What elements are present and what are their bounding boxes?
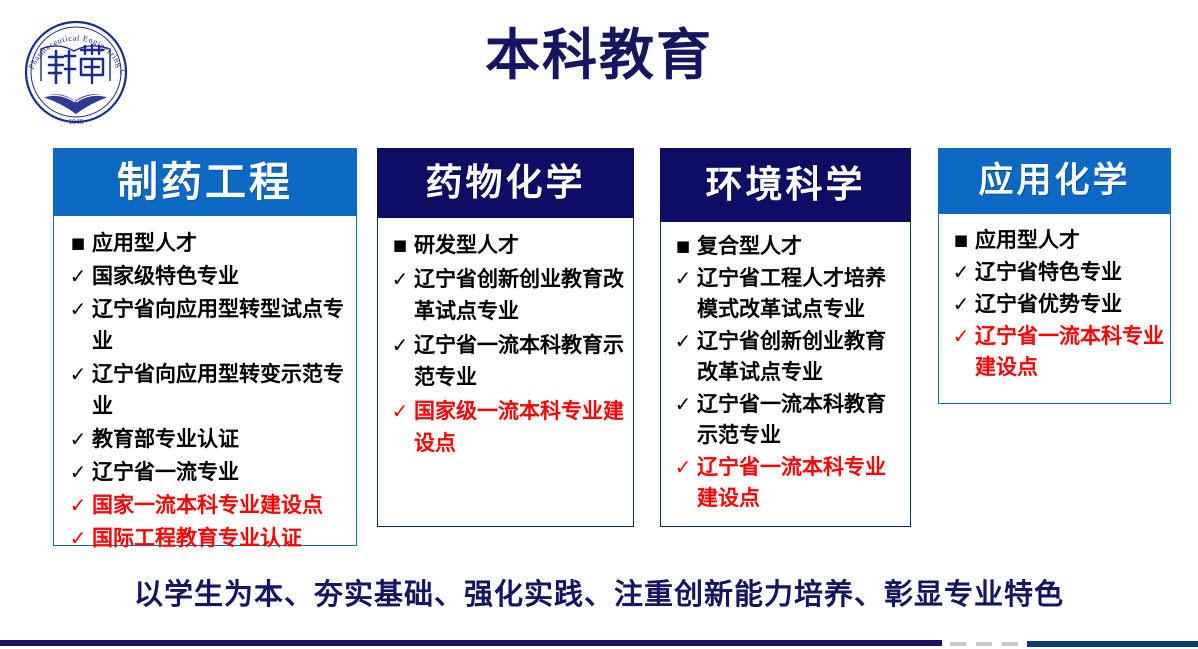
major-card-applied-chemistry: 应用化学 ■ 应用型人才 ✓ 辽宁省特色专业 ✓ 辽宁省优势专业 ✓ 辽宁省一流… [938, 148, 1171, 404]
card-header-environmental-science: 环境科学 [660, 148, 911, 222]
square-bullet-icon: ■ [947, 225, 975, 256]
list-item-label: 国家级特色专业 [92, 260, 348, 292]
list-item: ■ 研发型人才 [386, 229, 627, 261]
list-item-label: 教育部专业认证 [92, 423, 348, 455]
list-item: ✓ 辽宁省优势专业 [947, 289, 1164, 320]
card-body-pharmaceutical-engineering: ■ 应用型人才 ✓ 国家级特色专业 ✓ 辽宁省向应用型转型试点专业 ✓ 辽宁省向… [53, 216, 357, 546]
list-item: ■ 应用型人才 [947, 225, 1164, 256]
list-item-label: 辽宁省创新创业教育改革试点专业 [697, 326, 904, 388]
list-item: ✓ 国家一流本科专业建设点 [64, 489, 348, 521]
credential-list: ■ 研发型人才 ✓ 辽宁省创新创业教育改革试点专业 ✓ 辽宁省一流本科教育示范专… [386, 229, 627, 459]
square-bullet-icon: ■ [386, 229, 414, 261]
check-mark-icon: ✓ [64, 293, 92, 325]
card-title: 环境科学 [706, 163, 866, 206]
list-item: ✓ 辽宁省特色专业 [947, 257, 1164, 288]
list-item: ✓ 辽宁省工程人才培养模式改革试点专业 [669, 263, 904, 325]
check-mark-icon: ✓ [386, 329, 414, 361]
list-item: ✓ 辽宁省向应用型转型试点专业 [64, 293, 348, 357]
logo-year: ·1949· [66, 117, 86, 126]
check-mark-icon: ✓ [386, 395, 414, 427]
bottom-bar-dash [976, 642, 992, 646]
list-item: ■ 复合型人才 [669, 231, 904, 262]
list-item-label: 辽宁省一流专业 [92, 456, 348, 488]
list-item-label: 研发型人才 [414, 229, 627, 261]
list-item: ✓ 辽宁省创新创业教育改革试点专业 [386, 263, 627, 327]
page-title: 本科教育 [0, 20, 1198, 90]
list-item-label: 辽宁省一流本科专业建设点 [697, 452, 904, 514]
list-item-label: 应用型人才 [975, 225, 1164, 256]
check-mark-icon: ✓ [64, 489, 92, 521]
check-mark-icon: ✓ [669, 263, 697, 294]
list-item: ✓ 辽宁省一流本科专业建设点 [669, 452, 904, 514]
list-item-label: 辽宁省一流本科教育示范专业 [414, 329, 627, 393]
list-item-label: 辽宁省一流本科教育示范专业 [697, 389, 904, 451]
list-item-label: 辽宁省优势专业 [975, 289, 1164, 320]
bottom-bar-dash [1002, 642, 1018, 646]
check-mark-icon: ✓ [947, 321, 975, 352]
list-item-label: 国家一流本科专业建设点 [92, 489, 348, 521]
bottom-bar-navy-segment [0, 640, 942, 646]
list-item: ✓ 国际工程教育专业认证 [64, 522, 348, 554]
list-item: ✓ 辽宁省一流本科专业建设点 [947, 321, 1164, 383]
list-item: ✓ 教育部专业认证 [64, 423, 348, 455]
list-item: ✓ 辽宁省一流本科教育示范专业 [386, 329, 627, 393]
card-header-medicinal-chemistry: 药物化学 [377, 148, 634, 218]
card-body-environmental-science: ■ 复合型人才 ✓ 辽宁省工程人才培养模式改革试点专业 ✓ 辽宁省创新创业教育改… [660, 222, 911, 527]
card-header-pharmaceutical-engineering: 制药工程 [53, 148, 357, 216]
list-item: ■ 应用型人才 [64, 227, 348, 259]
list-item: ✓ 辽宁省向应用型转变示范专业 [64, 358, 348, 422]
check-mark-icon: ✓ [64, 358, 92, 390]
bottom-decorative-bar [0, 640, 1198, 649]
check-mark-icon: ✓ [64, 423, 92, 455]
list-item-label: 辽宁省工程人才培养模式改革试点专业 [697, 263, 904, 325]
list-item-label: 辽宁省一流本科专业建设点 [975, 321, 1164, 383]
check-mark-icon: ✓ [64, 260, 92, 292]
major-card-environmental-science: 环境科学 ■ 复合型人才 ✓ 辽宁省工程人才培养模式改革试点专业 ✓ 辽宁省创新… [660, 148, 911, 527]
check-mark-icon: ✓ [64, 456, 92, 488]
list-item-label: 辽宁省特色专业 [975, 257, 1164, 288]
major-card-medicinal-chemistry: 药物化学 ■ 研发型人才 ✓ 辽宁省创新创业教育改革试点专业 ✓ 辽宁省一流本科… [377, 148, 634, 527]
credential-list: ■ 复合型人才 ✓ 辽宁省工程人才培养模式改革试点专业 ✓ 辽宁省创新创业教育改… [669, 231, 904, 514]
credential-list: ■ 应用型人才 ✓ 辽宁省特色专业 ✓ 辽宁省优势专业 ✓ 辽宁省一流本科专业建… [947, 225, 1164, 383]
list-item: ✓ 辽宁省创新创业教育改革试点专业 [669, 326, 904, 388]
card-title: 制药工程 [117, 158, 293, 206]
card-title: 药物化学 [426, 161, 586, 204]
check-mark-icon: ✓ [386, 263, 414, 295]
square-bullet-icon: ■ [64, 227, 92, 259]
list-item-label: 国际工程教育专业认证 [92, 522, 348, 554]
check-mark-icon: ✓ [669, 389, 697, 420]
check-mark-icon: ✓ [947, 289, 975, 320]
list-item: ✓ 辽宁省一流专业 [64, 456, 348, 488]
card-body-applied-chemistry: ■ 应用型人才 ✓ 辽宁省特色专业 ✓ 辽宁省优势专业 ✓ 辽宁省一流本科专业建… [938, 214, 1171, 404]
list-item: ✓ 国家级一流本科专业建设点 [386, 395, 627, 459]
bottom-bar-dash [950, 642, 966, 646]
card-header-applied-chemistry: 应用化学 [938, 148, 1171, 214]
card-title: 应用化学 [978, 161, 1130, 201]
major-card-pharmaceutical-engineering: 制药工程 ■ 应用型人才 ✓ 国家级特色专业 ✓ 辽宁省向应用型转型试点专业 ✓… [53, 148, 357, 546]
check-mark-icon: ✓ [669, 326, 697, 357]
card-body-medicinal-chemistry: ■ 研发型人才 ✓ 辽宁省创新创业教育改革试点专业 ✓ 辽宁省一流本科教育示范专… [377, 218, 634, 527]
list-item-label: 应用型人才 [92, 227, 348, 259]
check-mark-icon: ✓ [947, 257, 975, 288]
list-item-label: 辽宁省向应用型转型试点专业 [92, 293, 348, 357]
check-mark-icon: ✓ [64, 522, 92, 554]
bottom-bar-dash-segment [950, 642, 1020, 646]
list-item-label: 辽宁省向应用型转变示范专业 [92, 358, 348, 422]
list-item-label: 国家级一流本科专业建设点 [414, 395, 627, 459]
list-item-label: 复合型人才 [697, 231, 904, 262]
list-item: ✓ 国家级特色专业 [64, 260, 348, 292]
footer-slogan: 以学生为本、夯实基础、强化实践、注重创新能力培养、彰显专业特色 [0, 574, 1198, 614]
credential-list: ■ 应用型人才 ✓ 国家级特色专业 ✓ 辽宁省向应用型转型试点专业 ✓ 辽宁省向… [64, 227, 348, 554]
square-bullet-icon: ■ [669, 231, 697, 262]
check-mark-icon: ✓ [669, 452, 697, 483]
list-item-label: 辽宁省创新创业教育改革试点专业 [414, 263, 627, 327]
list-item: ✓ 辽宁省一流本科教育示范专业 [669, 389, 904, 451]
bottom-bar-teal-segment [1027, 641, 1198, 647]
